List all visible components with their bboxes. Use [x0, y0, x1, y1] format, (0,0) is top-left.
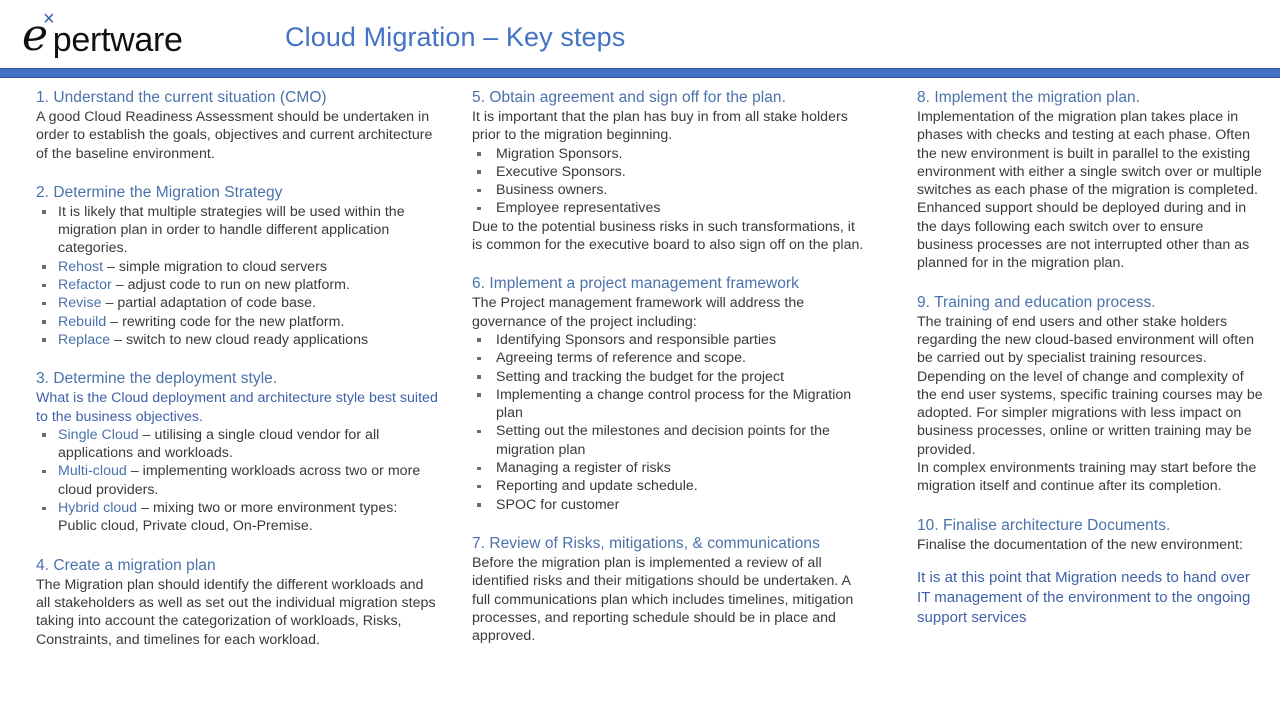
- list-item: Rebuild – rewriting code for the new pla…: [36, 313, 440, 331]
- bullet-text: – adjust code to run on new platform.: [112, 277, 350, 293]
- list-item: Identifying Sponsors and responsible par…: [472, 331, 868, 349]
- bullet-keyword: Hybrid cloud: [58, 500, 137, 516]
- section-2: 2. Determine the Migration Strategy It i…: [36, 183, 440, 349]
- section-5-heading: 5. Obtain agreement and sign off for the…: [472, 88, 868, 107]
- bullet-keyword: Rehost: [58, 259, 103, 275]
- list-item: Managing a register of risks: [472, 459, 868, 477]
- logo-wordmark: pertware: [53, 23, 183, 57]
- column-3: 8. Implement the migration plan. Impleme…: [917, 88, 1263, 628]
- bullet-keyword: Rebuild: [58, 314, 106, 330]
- section-7-heading: 7. Review of Risks, mitigations, & commu…: [472, 534, 868, 553]
- section-8: 8. Implement the migration plan. Impleme…: [917, 88, 1263, 273]
- section-9-heading: 9. Training and education process.: [917, 293, 1263, 312]
- header-divider: [0, 68, 1280, 78]
- section-3: 3. Determine the deployment style. What …: [36, 369, 440, 535]
- spacer: [472, 254, 868, 274]
- section-5-paragraph: It is important that the plan has buy in…: [472, 108, 868, 145]
- section-6-heading: 6. Implement a project management framew…: [472, 274, 868, 293]
- bullet-keyword: Multi-cloud: [58, 463, 127, 479]
- bullet-keyword: Replace: [58, 332, 110, 348]
- section-6: 6. Implement a project management framew…: [472, 274, 868, 514]
- list-item: Reporting and update schedule.: [472, 477, 868, 495]
- column-2: 5. Obtain agreement and sign off for the…: [472, 88, 868, 645]
- bullet-text: – rewriting code for the new platform.: [106, 314, 344, 330]
- section-5: 5. Obtain agreement and sign off for the…: [472, 88, 868, 254]
- section-1: 1. Understand the current situation (CMO…: [36, 88, 440, 163]
- list-item: Business owners.: [472, 181, 868, 199]
- list-item: Agreeing terms of reference and scope.: [472, 349, 868, 367]
- column-1: 1. Understand the current situation (CMO…: [36, 88, 440, 649]
- bullet-text: – partial adaptation of code base.: [102, 295, 316, 311]
- section-4-heading: 4. Create a migration plan: [36, 556, 440, 575]
- list-item: Multi-cloud – implementing workloads acr…: [36, 462, 440, 499]
- list-item: Revise – partial adaptation of code base…: [36, 294, 440, 312]
- list-item: Hybrid cloud – mixing two or more enviro…: [36, 499, 440, 536]
- section-8-paragraph-1: Implementation of the migration plan tak…: [917, 108, 1263, 199]
- section-6-bullet-list: Identifying Sponsors and responsible par…: [472, 331, 868, 514]
- list-item: Rehost – simple migration to cloud serve…: [36, 258, 440, 276]
- section-9: 9. Training and education process. The t…: [917, 293, 1263, 496]
- section-6-paragraph: The Project management framework will ad…: [472, 294, 868, 331]
- bullet-keyword: Revise: [58, 295, 102, 311]
- spacer: [36, 163, 440, 183]
- bullet-text: – simple migration to cloud servers: [103, 259, 327, 275]
- section-3-blue-paragraph: What is the Cloud deployment and archite…: [36, 389, 440, 426]
- section-3-bullet-list: Single Cloud – utilising a single cloud …: [36, 426, 440, 536]
- list-item: Refactor – adjust code to run on new pla…: [36, 276, 440, 294]
- section-4-paragraph: The Migration plan should identify the d…: [36, 576, 440, 649]
- section-1-paragraph: A good Cloud Readiness Assessment should…: [36, 108, 440, 163]
- section-10: 10. Finalise architecture Documents. Fin…: [917, 516, 1263, 628]
- list-item: Setting and tracking the budget for the …: [472, 368, 868, 386]
- section-2-bullet-list: It is likely that multiple strategies wi…: [36, 203, 440, 349]
- section-9-paragraph-1: The training of end users and other stak…: [917, 313, 1263, 459]
- section-2-heading: 2. Determine the Migration Strategy: [36, 183, 440, 202]
- list-item: Migration Sponsors.: [472, 145, 868, 163]
- spacer: [917, 273, 1263, 293]
- content-columns: 1. Understand the current situation (CMO…: [0, 88, 1280, 720]
- expertware-logo: e × pertware: [22, 8, 189, 58]
- list-item: Replace – switch to new cloud ready appl…: [36, 331, 440, 349]
- section-4: 4. Create a migration plan The Migration…: [36, 556, 440, 649]
- list-item: Setting out the milestones and decision …: [472, 422, 868, 459]
- spacer: [917, 554, 1263, 568]
- bullet-keyword: Refactor: [58, 277, 112, 293]
- section-8-paragraph-2: Enhanced support should be deployed duri…: [917, 199, 1263, 272]
- section-7: 7. Review of Risks, mitigations, & commu…: [472, 534, 868, 645]
- bullet-text: – switch to new cloud ready applications: [110, 332, 368, 348]
- bullet-text: It is likely that multiple strategies wi…: [58, 204, 405, 257]
- list-item: Implementing a change control process fo…: [472, 386, 868, 423]
- list-item: Single Cloud – utilising a single cloud …: [36, 426, 440, 463]
- list-item: It is likely that multiple strategies wi…: [36, 203, 440, 258]
- list-item: SPOC for customer: [472, 496, 868, 514]
- section-10-heading: 10. Finalise architecture Documents.: [917, 516, 1263, 535]
- section-3-heading: 3. Determine the deployment style.: [36, 369, 440, 388]
- section-7-paragraph: Before the migration plan is implemented…: [472, 554, 868, 645]
- spacer: [472, 514, 868, 534]
- section-5-bullet-list: Migration Sponsors. Executive Sponsors. …: [472, 145, 868, 218]
- list-item: Executive Sponsors.: [472, 163, 868, 181]
- page-title: Cloud Migration – Key steps: [285, 22, 625, 53]
- spacer: [36, 536, 440, 556]
- bullet-keyword: Single Cloud: [58, 427, 139, 443]
- spacer: [917, 496, 1263, 516]
- slide-header: e × pertware Cloud Migration – Key steps: [0, 0, 1280, 66]
- section-8-heading: 8. Implement the migration plan.: [917, 88, 1263, 107]
- spacer: [36, 349, 440, 369]
- section-5-paragraph-after: Due to the potential business risks in s…: [472, 218, 868, 255]
- section-10-paragraph: Finalise the documentation of the new en…: [917, 536, 1263, 554]
- section-1-heading: 1. Understand the current situation (CMO…: [36, 88, 440, 107]
- slide: e × pertware Cloud Migration – Key steps…: [0, 0, 1280, 720]
- closing-statement: It is at this point that Migration needs…: [917, 568, 1263, 628]
- section-9-paragraph-2: In complex environments training may sta…: [917, 459, 1263, 496]
- list-item: Employee representatives: [472, 199, 868, 217]
